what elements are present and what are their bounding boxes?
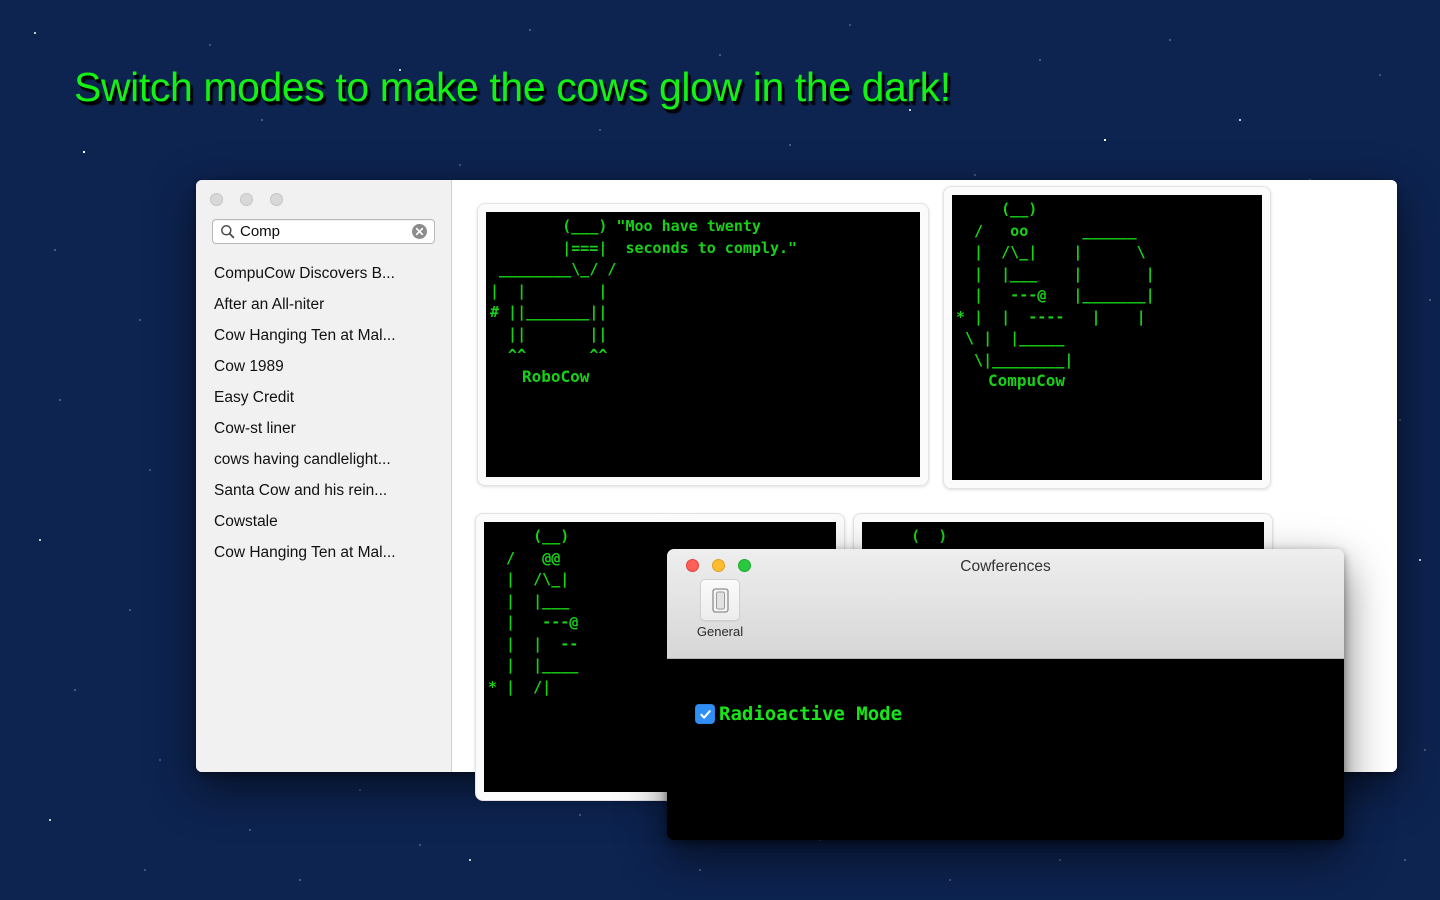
search-input-value: Comp xyxy=(240,224,412,240)
cow-name-label: RoboCow xyxy=(486,367,920,392)
preferences-titlebar[interactable]: Cowferences General xyxy=(667,549,1344,659)
tab-general-label: General xyxy=(689,624,751,639)
list-item[interactable]: cows having candlelight... xyxy=(196,444,451,475)
search-input[interactable]: Comp xyxy=(212,219,435,244)
list-item[interactable]: Cow-st liner xyxy=(196,413,451,444)
light-switch-icon xyxy=(700,579,740,621)
cow-card-robocow[interactable]: (___) "Moo have twenty |===| seconds to … xyxy=(477,203,929,486)
cow-ascii-art: ( ) xyxy=(862,522,1264,548)
window-controls xyxy=(196,180,451,216)
sidebar: Comp CompuCow Discovers B... After an Al… xyxy=(196,180,452,772)
minimize-button[interactable] xyxy=(240,193,253,206)
preferences-window: Cowferences General Radioactive Mode xyxy=(667,549,1344,840)
list-item[interactable]: Cowstale xyxy=(196,506,451,537)
search-results-list: CompuCow Discovers B... After an All-nit… xyxy=(196,244,451,568)
list-item[interactable]: Cow Hanging Ten at Mal... xyxy=(196,320,451,351)
preferences-title: Cowferences xyxy=(667,558,1344,576)
search-row: Comp xyxy=(196,216,451,244)
cow-ascii-art: (___) "Moo have twenty |===| seconds to … xyxy=(486,212,920,367)
search-icon xyxy=(220,224,235,239)
cow-name-label: CompuCow xyxy=(952,371,1262,396)
radioactive-mode-row[interactable]: Radioactive Mode xyxy=(695,703,902,725)
cow-ascii-art: (__) / oo ______ | /\_| | \ | |___ | | |… xyxy=(952,195,1262,371)
preferences-body: Radioactive Mode xyxy=(667,659,1344,840)
list-item[interactable]: Cow Hanging Ten at Mal... xyxy=(196,537,451,568)
cow-screen: (___) "Moo have twenty |===| seconds to … xyxy=(486,212,920,477)
list-item[interactable]: Cow 1989 xyxy=(196,351,451,382)
zoom-button[interactable] xyxy=(270,193,283,206)
list-item[interactable]: After an All-niter xyxy=(196,289,451,320)
clear-icon[interactable] xyxy=(412,224,427,239)
preferences-toolbar: General xyxy=(667,572,1344,639)
radioactive-mode-checkbox[interactable] xyxy=(695,704,715,724)
close-button[interactable] xyxy=(210,193,223,206)
list-item[interactable]: Easy Credit xyxy=(196,382,451,413)
cow-screen: (__) / oo ______ | /\_| | \ | |___ | | |… xyxy=(952,195,1262,480)
list-item[interactable]: CompuCow Discovers B... xyxy=(196,258,451,289)
radioactive-mode-label: Radioactive Mode xyxy=(719,703,902,725)
list-item[interactable]: Santa Cow and his rein... xyxy=(196,475,451,506)
page-title: Switch modes to make the cows glow in th… xyxy=(74,64,951,111)
tab-general[interactable]: General xyxy=(689,579,751,639)
cow-card-compucow[interactable]: (__) / oo ______ | /\_| | \ | |___ | | |… xyxy=(943,186,1271,489)
